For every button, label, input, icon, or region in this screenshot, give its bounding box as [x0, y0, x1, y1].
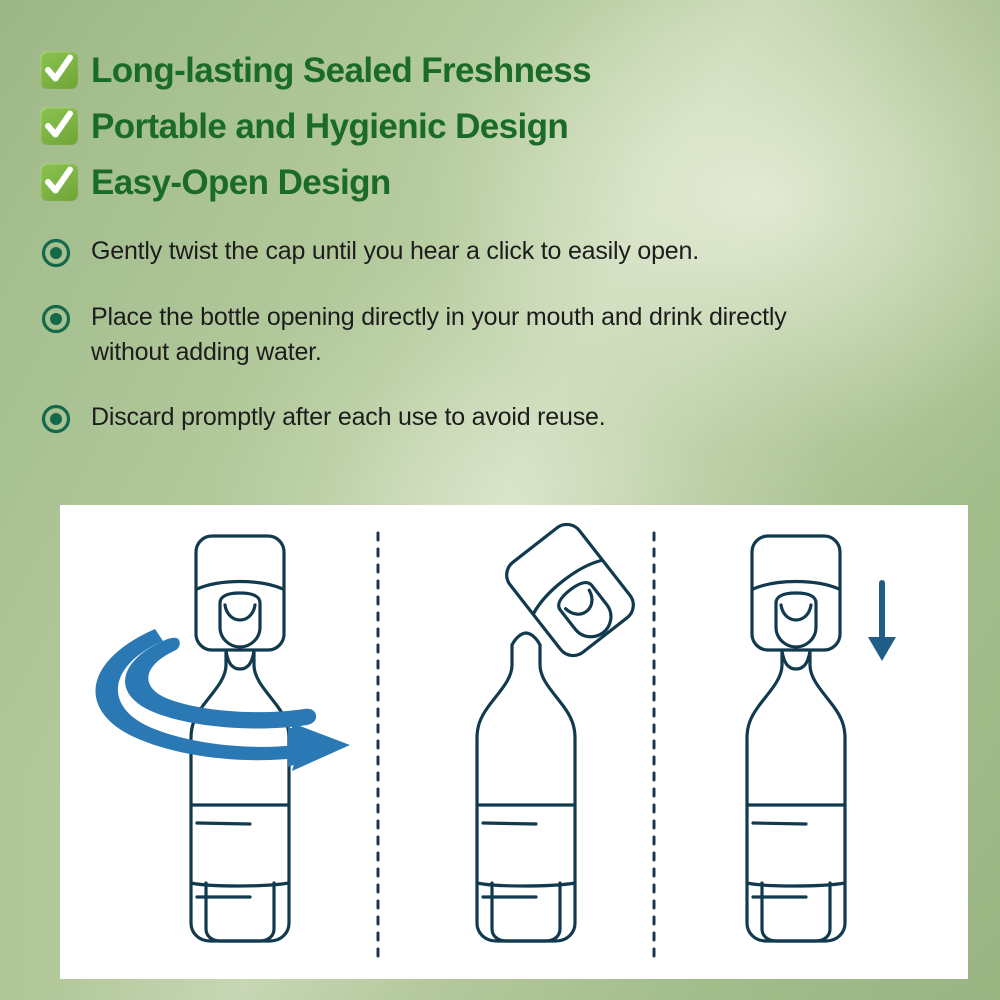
bottle-cap — [752, 536, 840, 669]
check-square-icon — [40, 163, 78, 201]
feature-heading-item: Long-lasting Sealed Freshness — [40, 42, 591, 98]
instruction-text: Discard promptly after each use to avoid… — [91, 400, 605, 435]
feature-heading-list: Long-lasting Sealed Freshness Portable a… — [40, 42, 591, 210]
feature-heading-item: Portable and Hygienic Design — [40, 98, 591, 154]
feature-heading-label: Portable and Hygienic Design — [91, 109, 568, 144]
bottle-body — [191, 652, 289, 941]
instruction-item: Gently twist the cap until you hear a cl… — [40, 234, 830, 269]
bottle-cap-tilted — [500, 518, 640, 662]
illustration-panel — [60, 505, 968, 979]
check-square-icon — [40, 51, 78, 89]
down-arrow-icon — [868, 583, 896, 661]
instruction-item: Discard promptly after each use to avoid… — [40, 400, 830, 435]
feature-heading-item: Easy-Open Design — [40, 154, 591, 210]
instruction-text: Gently twist the cap until you hear a cl… — [91, 234, 699, 269]
bottle-cap — [196, 536, 284, 669]
check-square-icon — [40, 107, 78, 145]
radio-dot-icon — [40, 303, 72, 335]
bottle-body — [477, 633, 575, 941]
feature-heading-label: Long-lasting Sealed Freshness — [91, 53, 591, 88]
illustration-svg — [60, 505, 968, 979]
remove-cap-step — [466, 518, 640, 945]
bottle-body — [747, 652, 845, 941]
radio-dot-icon — [40, 403, 72, 435]
instruction-item: Place the bottle opening directly in you… — [40, 300, 830, 369]
feature-heading-label: Easy-Open Design — [91, 165, 391, 200]
replace-cap-step — [736, 536, 896, 945]
twist-cap-step — [96, 536, 350, 945]
radio-dot-icon — [40, 237, 72, 269]
poster-canvas: Long-lasting Sealed Freshness Portable a… — [0, 0, 1000, 1000]
instruction-text: Place the bottle opening directly in you… — [91, 300, 821, 369]
instruction-list: Gently twist the cap until you hear a cl… — [40, 234, 830, 435]
